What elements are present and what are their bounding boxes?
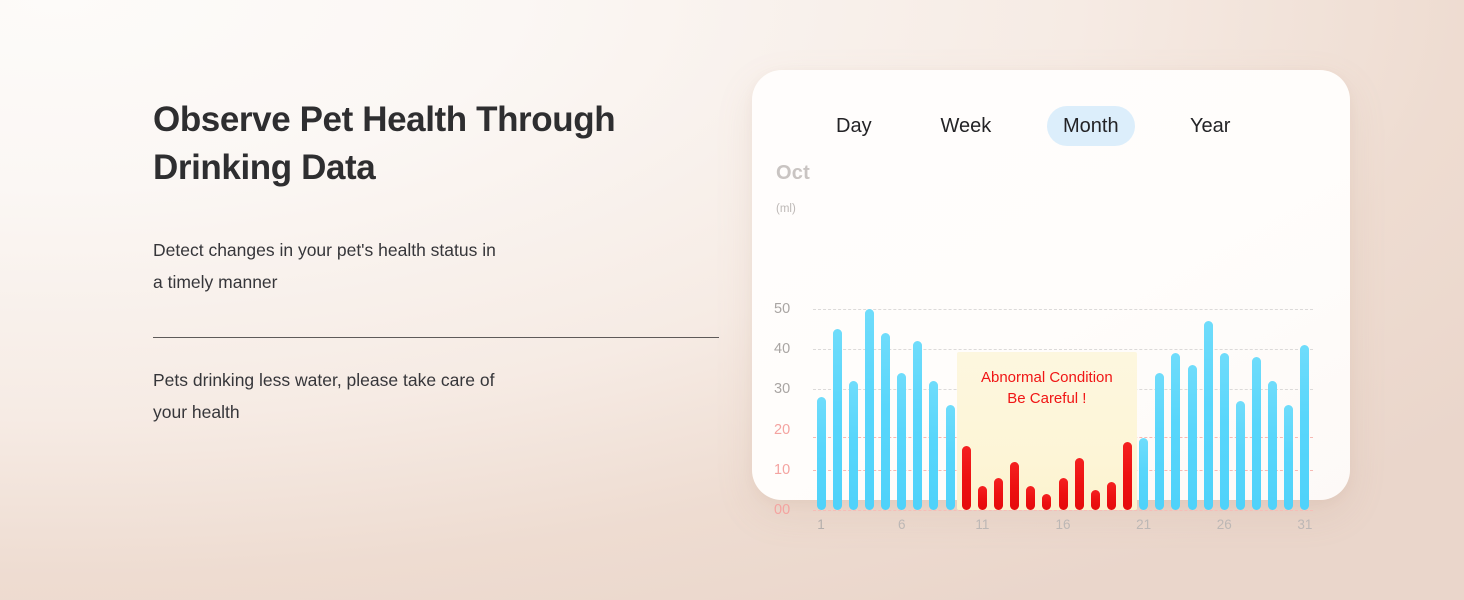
bar-day-21[interactable] bbox=[1139, 438, 1148, 510]
bar-day-27[interactable] bbox=[1236, 401, 1245, 510]
bar-day-11[interactable] bbox=[978, 486, 987, 510]
bar-day-26[interactable] bbox=[1220, 353, 1229, 510]
bar-day-24[interactable] bbox=[1188, 365, 1197, 510]
bar-day-13[interactable] bbox=[1010, 462, 1019, 510]
bar-day-14[interactable] bbox=[1026, 486, 1035, 510]
x-axis-tick-31: 31 bbox=[1297, 517, 1312, 532]
bar-day-29[interactable] bbox=[1268, 381, 1277, 510]
bar-day-12[interactable] bbox=[994, 478, 1003, 510]
paragraph2-line-1: Pets drinking less water, please take ca… bbox=[153, 370, 494, 390]
bar-day-30[interactable] bbox=[1284, 405, 1293, 510]
x-axis-tick-11: 11 bbox=[975, 517, 989, 532]
hero-copy: Observe Pet Health Through Drinking Data… bbox=[153, 96, 721, 428]
paragraph1-line-1: Detect changes in your pet's health stat… bbox=[153, 240, 496, 260]
copy-divider bbox=[153, 337, 719, 338]
bar-day-6[interactable] bbox=[897, 373, 906, 510]
paragraph1-line-2: a timely manner bbox=[153, 272, 278, 292]
bar-day-15[interactable] bbox=[1042, 494, 1051, 510]
bar-day-10[interactable] bbox=[962, 446, 971, 510]
bar-day-19[interactable] bbox=[1107, 482, 1116, 510]
bar-day-20[interactable] bbox=[1123, 442, 1132, 510]
bar-day-7[interactable] bbox=[913, 341, 922, 510]
bar-day-9[interactable] bbox=[946, 405, 955, 510]
x-axis-tick-26: 26 bbox=[1217, 517, 1232, 532]
bar-day-16[interactable] bbox=[1059, 478, 1068, 510]
bar-series bbox=[752, 70, 1350, 500]
y-axis-tick-00: 00 bbox=[774, 502, 806, 518]
bar-day-28[interactable] bbox=[1252, 357, 1261, 510]
bar-day-3[interactable] bbox=[849, 381, 858, 510]
hero-paragraph-secondary: Pets drinking less water, please take ca… bbox=[153, 364, 721, 428]
bar-day-8[interactable] bbox=[929, 381, 938, 510]
hero-paragraph-primary: Detect changes in your pet's health stat… bbox=[153, 234, 721, 298]
bar-day-25[interactable] bbox=[1204, 321, 1213, 510]
paragraph2-line-2: your health bbox=[153, 402, 240, 422]
bar-day-2[interactable] bbox=[833, 329, 842, 510]
x-axis-tick-21: 21 bbox=[1136, 517, 1151, 532]
chart-plot-area: (ml) 504030201000 Abnormal Condition Be … bbox=[752, 70, 1350, 500]
page-title: Observe Pet Health Through Drinking Data bbox=[153, 96, 721, 192]
bar-day-23[interactable] bbox=[1171, 353, 1180, 510]
bar-day-31[interactable] bbox=[1300, 345, 1309, 510]
bar-day-5[interactable] bbox=[881, 333, 890, 510]
headline-line-1: Observe Pet Health Through bbox=[153, 100, 615, 139]
x-axis-tick-6: 6 bbox=[898, 517, 906, 532]
x-axis-tick-1: 1 bbox=[817, 517, 825, 532]
bar-day-1[interactable] bbox=[817, 397, 826, 510]
x-axis-tick-16: 16 bbox=[1055, 517, 1070, 532]
drinking-data-card: DayWeekMonthYear Oct (ml) 504030201000 A… bbox=[752, 70, 1350, 500]
bar-day-17[interactable] bbox=[1075, 458, 1084, 510]
bar-day-22[interactable] bbox=[1155, 373, 1164, 510]
bar-day-4[interactable] bbox=[865, 309, 874, 510]
bar-day-18[interactable] bbox=[1091, 490, 1100, 510]
headline-line-2: Drinking Data bbox=[153, 148, 375, 187]
grid-line-00 bbox=[813, 510, 1313, 511]
